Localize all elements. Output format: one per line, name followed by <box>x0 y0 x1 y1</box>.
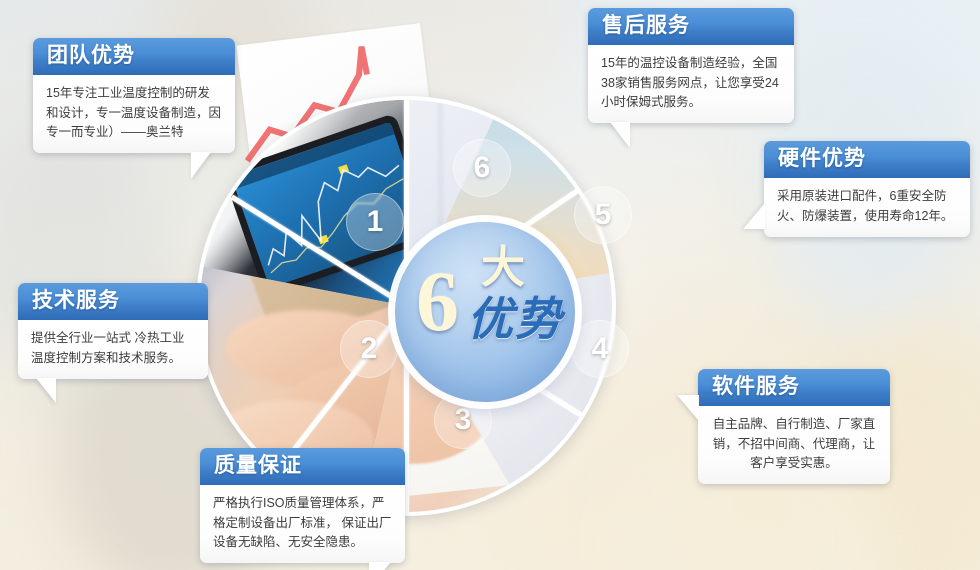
callout-tech-title: 技术服务 <box>18 283 208 320</box>
callout-quality-body: 严格执行ISO质量管理体系，严格定制设备出厂标准， 保证出厂设备无缺陷、无安全隐… <box>200 485 405 563</box>
segment-number-1-label: 1 <box>367 205 384 239</box>
segment-number-5-label: 5 <box>595 198 612 232</box>
segment-number-2[interactable]: 2 <box>340 320 398 378</box>
callout-tech-body: 提供全行业一站式 冷热工业温度控制方案和技术服务。 <box>18 320 208 379</box>
callout-quality-tail <box>369 562 391 570</box>
segment-number-4-label: 4 <box>592 332 609 366</box>
callout-software-title: 软件服务 <box>698 369 890 406</box>
callout-quality-assurance[interactable]: 质量保证 严格执行ISO质量管理体系，严格定制设备出厂标准， 保证出厂设备无缺陷… <box>200 448 405 563</box>
callout-software-service[interactable]: 软件服务 自主品牌、自行制造、厂家直销，不招中间商、代理商，让客户享受实惠。 <box>698 369 890 484</box>
callout-team-advantage[interactable]: 团队优势 15年专注工业温度控制的研发和设计，专一温度设备制造，因专一而专业）—… <box>33 38 235 153</box>
callout-team-body: 15年专注工业温度控制的研发和设计，专一温度设备制造，因专一而专业）——奥兰特 <box>33 75 235 153</box>
segment-number-6-label: 6 <box>474 151 491 185</box>
center-number: 6 <box>416 258 459 344</box>
callout-aftersale-body: 15年的温控设备制造经验，全国38家销售服务网点，让您享受24小时保姆式服务。 <box>588 45 794 123</box>
callout-aftersale-title: 售后服务 <box>588 8 794 45</box>
center-badge: 6 大 优势 <box>395 222 575 402</box>
segment-number-4[interactable]: 4 <box>571 320 629 378</box>
callout-aftersale-tail <box>610 122 630 148</box>
callout-technical-service[interactable]: 技术服务 提供全行业一站式 冷热工业温度控制方案和技术服务。 <box>18 283 208 379</box>
callout-tech-tail <box>36 378 56 403</box>
center-word: 优势 <box>467 296 563 342</box>
callout-hardware-body: 采用原装进口配件，6重安全防火、防爆装置，使用寿命12年。 <box>764 178 970 237</box>
center-unit: 大 <box>481 246 525 290</box>
callout-hardware-title: 硬件优势 <box>764 141 970 178</box>
callout-hardware-tail <box>743 203 765 229</box>
segment-number-5[interactable]: 5 <box>574 186 632 244</box>
callout-after-sales-service[interactable]: 售后服务 15年的温控设备制造经验，全国38家销售服务网点，让您享受24小时保姆… <box>588 8 794 123</box>
segment-number-3-label: 3 <box>455 403 472 437</box>
callout-team-tail <box>191 152 211 179</box>
callout-quality-title: 质量保证 <box>200 448 405 485</box>
callout-software-tail <box>677 395 699 421</box>
segment-number-6[interactable]: 6 <box>453 139 511 197</box>
callout-team-title: 团队优势 <box>33 38 235 75</box>
callout-software-body: 自主品牌、自行制造、厂家直销，不招中间商、代理商，让客户享受实惠。 <box>698 406 890 484</box>
infographic-canvas: 1 2 3 4 5 6 6 大 优势 团队优势 15年专注工业温度控制的研发和设… <box>0 0 980 570</box>
callout-hardware-advantage[interactable]: 硬件优势 采用原装进口配件，6重安全防火、防爆装置，使用寿命12年。 <box>764 141 970 237</box>
segment-number-2-label: 2 <box>361 332 378 366</box>
